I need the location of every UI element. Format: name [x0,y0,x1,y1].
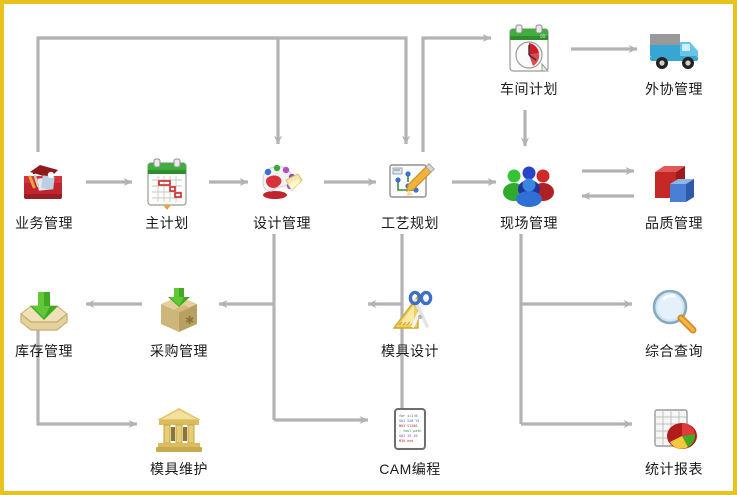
node-label: 库存管理 [0,343,100,360]
code-document-icon: for i=1:N G01 X20 Y5 M03 S1200 ; tool pa… [382,402,438,458]
node-outsourcing[interactable]: 外协管理 [618,22,730,98]
svg-text:99: 99 [540,34,546,40]
node-business[interactable]: 业务管理 [0,156,100,232]
node-master-plan[interactable]: 主计划 [111,156,223,232]
node-cam[interactable]: for i=1:N G01 X20 Y5 M03 S1200 ; tool pa… [354,402,466,478]
node-shopfloor[interactable]: 现场管理 [473,156,585,232]
svg-text:M03 S1200: M03 S1200 [399,424,417,428]
node-quality[interactable]: 品质管理 [618,156,730,232]
toolbox-icon [16,156,72,212]
node-label: 业务管理 [0,215,100,232]
node-label: 主计划 [111,215,223,232]
node-label: 模具设计 [354,343,466,360]
node-label: 现场管理 [473,215,585,232]
calendar-clock-icon: 99 [501,22,557,78]
node-label: 统计报表 [618,461,730,478]
node-mold-design[interactable]: 模具设计 [354,284,466,360]
node-label: 品质管理 [618,215,730,232]
svg-text:M30 end: M30 end [399,439,413,443]
node-reports[interactable]: 统计报表 [618,402,730,478]
inbox-down-icon [16,284,72,340]
node-purchase[interactable]: ✱ 采购管理 [123,284,235,360]
svg-text:; tool path: ; tool path [399,429,421,433]
node-design[interactable]: 设计管理 [226,156,338,232]
bank-pillars-icon [151,402,207,458]
node-mold-maintain[interactable]: 模具维护 [123,402,235,478]
people-group-icon [501,156,557,212]
node-label: 车间计划 [473,81,585,98]
node-workshop-plan[interactable]: 99 车间计划 [473,22,585,98]
svg-text:G02 I5 J0: G02 I5 J0 [399,434,417,438]
blocks-icon [646,156,702,212]
edge-business-to-process-plan [38,38,406,144]
package-down-icon: ✱ [151,284,207,340]
calendar-chart-icon [139,156,195,212]
svg-text:✱: ✱ [185,315,194,327]
flowchart-pencil-icon [382,156,438,212]
node-label: 综合查询 [618,343,730,360]
node-label: 工艺规划 [354,215,466,232]
palette-icon [254,156,310,212]
magnifier-icon [646,284,702,340]
ruler-scissors-icon [382,284,438,340]
node-label: CAM编程 [354,461,466,478]
node-inventory[interactable]: 库存管理 [0,284,100,360]
chart-table-icon [646,402,702,458]
node-label: 采购管理 [123,343,235,360]
svg-text:G01 X20 Y5: G01 X20 Y5 [399,419,419,423]
node-query[interactable]: 综合查询 [618,284,730,360]
delivery-truck-icon [646,22,702,78]
node-process-plan[interactable]: 工艺规划 [354,156,466,232]
node-label: 设计管理 [226,215,338,232]
node-label: 模具维护 [123,461,235,478]
svg-text:for i=1:N: for i=1:N [399,414,417,418]
flowchart-canvas: 99 车间计划 [0,0,737,495]
node-label: 外协管理 [618,81,730,98]
edge-business-to-design [38,38,278,152]
